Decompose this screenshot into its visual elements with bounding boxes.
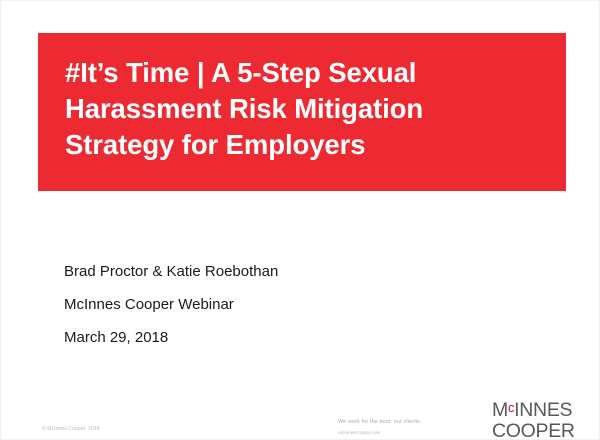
mcinnes-cooper-logo: McINNES COOPER: [492, 397, 578, 440]
presentation-slide: #It’s Time | A 5-Step Sexual Harassment …: [0, 0, 600, 440]
title-banner: #It’s Time | A 5-Step Sexual Harassment …: [38, 33, 566, 191]
presentation-details: Brad Proctor & Katie Roebothan McInnes C…: [64, 263, 484, 347]
slide-title: #It’s Time | A 5-Step Sexual Harassment …: [65, 55, 540, 163]
presentation-date: March 29, 2018: [64, 329, 484, 347]
company-tagline: We work for the best: our clients.: [338, 419, 422, 426]
logo-line-two: COOPER: [492, 421, 578, 440]
presenter-names: Brad Proctor & Katie Roebothan: [64, 263, 484, 281]
logo-innes: INNES: [514, 399, 572, 421]
footer-center-block: We work for the best: our clients. mcinn…: [338, 419, 422, 436]
logo-prefix-m: M: [492, 399, 508, 421]
logo-line-one: McINNES: [492, 397, 578, 421]
company-website-url: mcinnescooper.com: [338, 429, 422, 436]
copyright-notice: © McInnes Cooper, 2018: [42, 426, 100, 433]
event-name: McInnes Cooper Webinar: [64, 296, 484, 314]
